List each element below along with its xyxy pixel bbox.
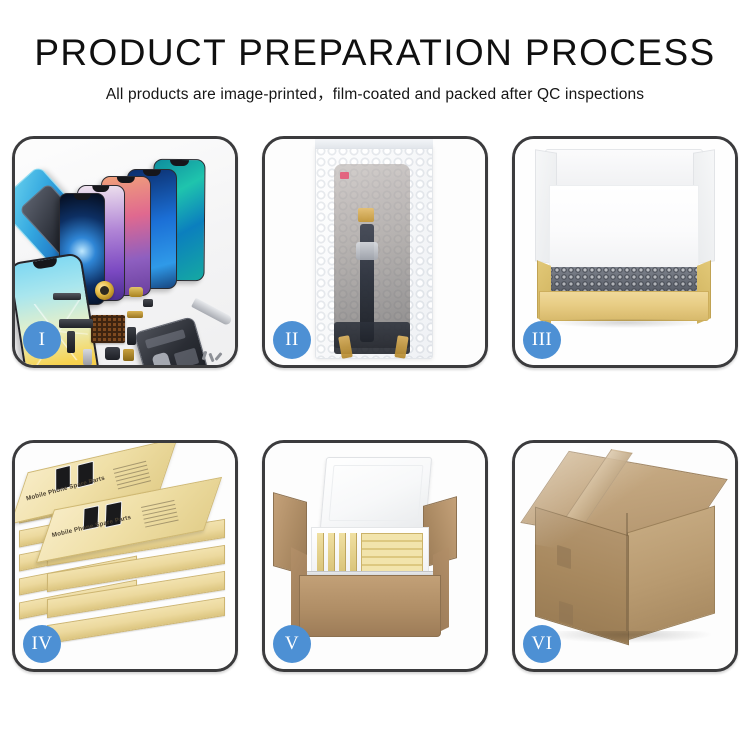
connector-strip-icon	[53, 293, 81, 300]
header: PRODUCT PREPARATION PROCESS All products…	[0, 0, 750, 104]
red-sticker-icon	[340, 172, 349, 179]
packed-kraft-boxes-icon	[317, 533, 423, 573]
speaker-coil-icon	[95, 281, 114, 300]
small-dark-part-icon	[143, 299, 153, 307]
step-badge-5: V	[273, 625, 311, 663]
camera-module-icon	[105, 347, 120, 360]
step-panel-3[interactable]: III	[512, 136, 738, 368]
flex-cable-c-icon	[127, 327, 136, 345]
flex-cable-a-icon	[59, 319, 93, 328]
gold-tab-icon	[358, 208, 374, 222]
kraft-box-stack-icon: Mobile Phone Spare Parts Mobile Phone Sp…	[19, 449, 231, 657]
page-title: PRODUCT PREPARATION PROCESS	[0, 34, 750, 73]
product-preparation-infographic: PRODUCT PREPARATION PROCESS All products…	[0, 0, 750, 750]
step-panel-2[interactable]: II	[262, 136, 488, 368]
housing-part-2	[151, 352, 174, 365]
gold-contact-icon	[127, 311, 143, 318]
page-subtitle: All products are image-printed，film-coat…	[0, 82, 750, 104]
housing-part-3	[174, 348, 200, 365]
bubble-wrap-bag-icon	[315, 145, 433, 359]
box-lid-back-icon	[545, 149, 703, 189]
gold-module-icon	[129, 287, 143, 297]
foam-lid-icon	[320, 457, 432, 529]
step-panel-6[interactable]: VI	[512, 440, 738, 672]
step-panel-5[interactable]: V	[262, 440, 488, 672]
step-badge-3: III	[523, 321, 561, 359]
screen-ic-chip-icon	[356, 242, 378, 260]
carton-seam	[626, 513, 628, 631]
carton-handle-tab-top	[557, 545, 571, 569]
small-gold-part-icon	[123, 349, 134, 361]
screws-icon	[201, 351, 225, 365]
white-foam-sheet-icon	[549, 185, 699, 269]
chip-grid-icon	[91, 315, 125, 343]
step-panel-1[interactable]: I	[12, 136, 238, 368]
steps-grid: I II	[12, 136, 738, 672]
carton-front-icon	[299, 575, 441, 637]
step-panel-4[interactable]: Mobile Phone Spare Parts Mobile Phone Sp…	[12, 440, 238, 672]
kraft-box-front-icon	[539, 291, 709, 321]
carton-handle-tab-bottom	[559, 601, 573, 625]
flex-cable-b-icon	[67, 331, 75, 353]
step-badge-4: IV	[23, 625, 61, 663]
step-badge-1: I	[23, 321, 61, 359]
tweezers-icon	[191, 298, 233, 327]
bag-seal-icon	[315, 139, 433, 149]
carton-shadow	[545, 631, 711, 643]
step-badge-6: VI	[523, 625, 561, 663]
gold-connector-right-icon	[394, 335, 408, 358]
step-badge-2: II	[273, 321, 311, 359]
housing-part-1	[145, 329, 186, 349]
box-shadow	[551, 319, 701, 328]
sim-tray-icon	[83, 349, 92, 365]
